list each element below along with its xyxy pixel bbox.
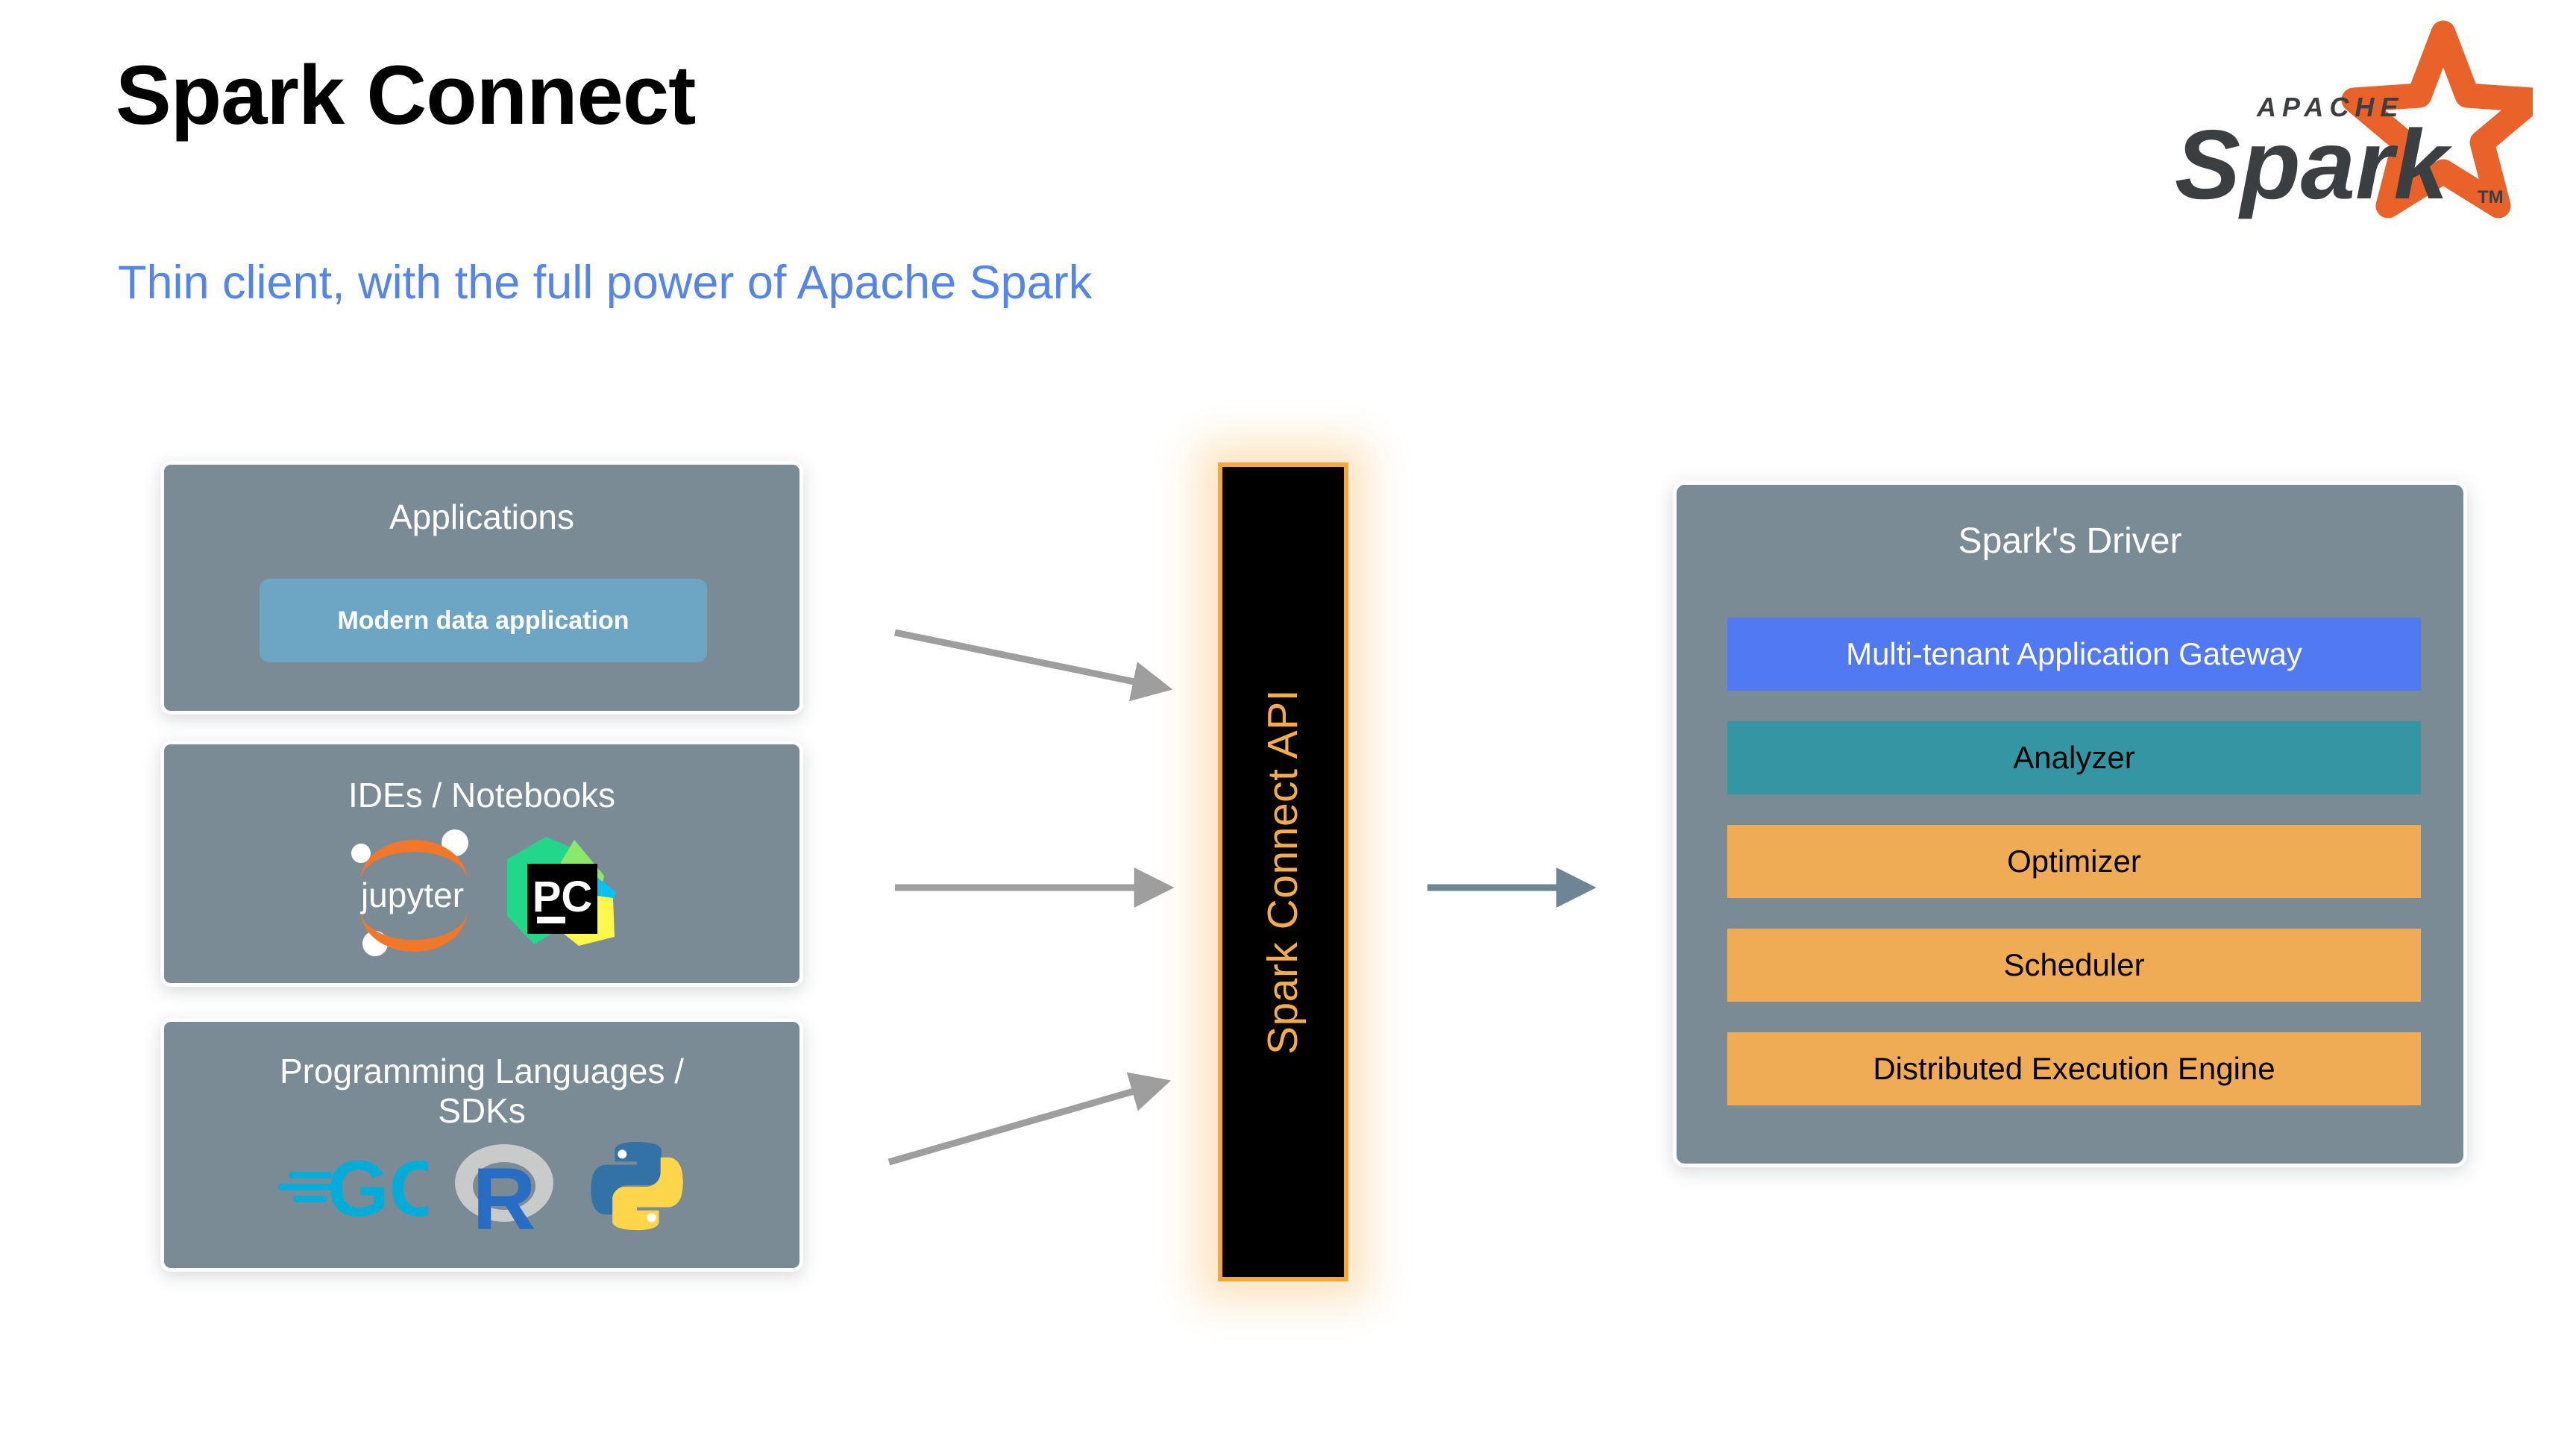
spark-connect-api-label: Spark Connect API (1259, 689, 1308, 1055)
python-logo (585, 1134, 689, 1238)
arrow-api-to-driver (1424, 865, 1618, 910)
apache-spark-logo: APACHE Spark TM (2145, 12, 2533, 221)
driver-row-optimizer[interactable]: Optimizer (1727, 825, 2421, 898)
ide-logo-row: jupyter PC (164, 826, 799, 957)
card-ides-notebooks[interactable]: IDEs / Notebooks jupyter PC (160, 741, 803, 987)
python-eye-top (618, 1149, 626, 1158)
card-languages-title-line1: Programming Languages / (280, 1052, 684, 1090)
go-speed-lines (278, 1172, 332, 1202)
driver-row-scheduler[interactable]: Scheduler (1727, 929, 2421, 1002)
jupyter-dot-left (351, 844, 371, 863)
language-logo-row: GO R (164, 1134, 799, 1238)
spark-driver-panel[interactable]: Spark's Driver Multi-tenant Application … (1673, 481, 2467, 1167)
pycharm-logo: PC (503, 832, 622, 952)
r-logo: R (450, 1134, 562, 1238)
spark-connect-api-bar[interactable]: Spark Connect API (1218, 462, 1348, 1281)
trademark-text: TM (2478, 187, 2504, 207)
card-programming-languages-sdks[interactable]: Programming Languages / SDKs GO R (160, 1018, 803, 1272)
spark-driver-title: Spark's Driver (1677, 521, 2463, 562)
driver-row-analyzer[interactable]: Analyzer (1727, 721, 2421, 794)
page-title: Spark Connect (116, 54, 695, 137)
driver-row-distributed-execution-engine[interactable]: Distributed Execution Engine (1727, 1032, 2421, 1105)
python-eye-bottom (647, 1214, 656, 1222)
card-languages-title-line2: SDKs (438, 1091, 526, 1130)
driver-row-multi-tenant-application-gateway[interactable]: Multi-tenant Application Gateway (1727, 618, 2421, 691)
card-ides-notebooks-title: IDEs / Notebooks (164, 776, 799, 815)
arrow-languages-to-api (880, 1067, 1201, 1171)
go-logo: GO (275, 1143, 428, 1229)
pycharm-pc-text: PC (533, 873, 593, 921)
go-wordmark: GO (327, 1145, 428, 1229)
r-letter: R (472, 1150, 535, 1238)
jupyter-wordmark: jupyter (359, 876, 464, 914)
card-applications[interactable]: Applications Modern data application (160, 461, 803, 715)
arrow-ides-to-api (888, 865, 1201, 910)
arrow-applications-to-api (888, 619, 1201, 709)
card-programming-languages-title: Programming Languages / SDKs (164, 1052, 799, 1131)
card-applications-title: Applications (164, 497, 799, 537)
jupyter-logo: jupyter (342, 826, 483, 957)
spark-wordmark-text: Spark (2175, 110, 2452, 219)
pycharm-underscore (537, 917, 565, 923)
modern-data-application-box[interactable]: Modern data application (260, 579, 707, 662)
page-subtitle: Thin client, with the full power of Apac… (118, 260, 1092, 307)
